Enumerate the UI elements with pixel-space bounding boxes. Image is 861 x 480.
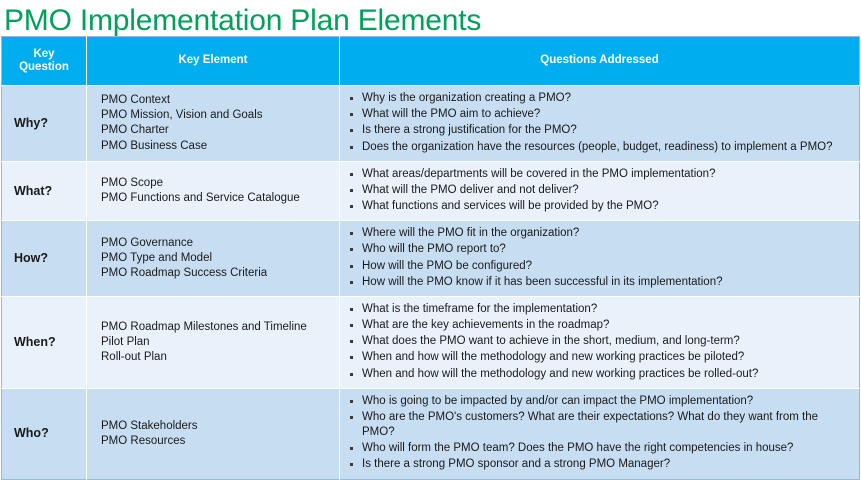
question-list-item: When and how will the methodology and ne… <box>348 367 851 382</box>
question-list-item: Who are the PMO's customers? What are th… <box>348 410 851 440</box>
table-header: Key Question Key Element Questions Addre… <box>2 37 860 86</box>
key-element-line: Roll-out Plan <box>101 350 331 365</box>
header-row: Key Question Key Element Questions Addre… <box>2 37 860 86</box>
questions-list: Why is the organization creating a PMO?W… <box>348 91 851 155</box>
question-list-item: What is the timeframe for the implementa… <box>348 302 851 317</box>
key-element-line: PMO Roadmap Success Criteria <box>101 266 331 281</box>
column-header-key-element: Key Element <box>87 37 340 86</box>
question-list-item: What does the PMO want to achieve in the… <box>348 334 851 349</box>
question-list-item: Who will the PMO report to? <box>348 242 851 257</box>
key-element-line: PMO Charter <box>101 123 331 138</box>
key-element-cell: PMO Roadmap Milestones and TimelinePilot… <box>87 296 340 388</box>
column-header-key-question-line1: Key <box>33 48 54 60</box>
question-list-item: How will the PMO know if it has been suc… <box>348 275 851 290</box>
question-list-item: Is there a strong justification for the … <box>348 123 851 138</box>
question-list-item: When and how will the methodology and ne… <box>348 350 851 365</box>
table-row: When?PMO Roadmap Milestones and Timeline… <box>2 296 860 388</box>
key-element-line: PMO Stakeholders <box>101 419 331 434</box>
questions-addressed-cell: What is the timeframe for the implementa… <box>340 296 860 388</box>
key-question-cell: Who? <box>2 388 87 479</box>
table-body: Why?PMO ContextPMO Mission, Vision and G… <box>2 86 860 480</box>
question-list-item: What functions and services will be prov… <box>348 199 851 214</box>
key-question-cell: How? <box>2 221 87 297</box>
pmo-implementation-plan-table: Key Question Key Element Questions Addre… <box>1 36 860 480</box>
question-list-item: What will the PMO aim to achieve? <box>348 107 851 122</box>
page-title: PMO Implementation Plan Elements <box>0 0 861 36</box>
questions-addressed-cell: Who is going to be impacted by and/or ca… <box>340 388 860 479</box>
column-header-questions-addressed: Questions Addressed <box>340 37 860 86</box>
key-question-cell: When? <box>2 296 87 388</box>
table-row: How?PMO GovernancePMO Type and ModelPMO … <box>2 221 860 297</box>
key-element-line: PMO Functions and Service Catalogue <box>101 191 331 206</box>
key-element-line: PMO Roadmap Milestones and Timeline <box>101 320 331 335</box>
key-element-line: PMO Mission, Vision and Goals <box>101 108 331 123</box>
questions-list: Who is going to be impacted by and/or ca… <box>348 394 851 473</box>
questions-list: Where will the PMO fit in the organizati… <box>348 226 851 290</box>
column-header-key-question-line2: Question <box>19 61 69 73</box>
key-element-line: PMO Context <box>101 93 331 108</box>
question-list-item: Why is the organization creating a PMO? <box>348 91 851 106</box>
key-element-cell: PMO ContextPMO Mission, Vision and Goals… <box>87 86 340 162</box>
question-list-item: Who is going to be impacted by and/or ca… <box>348 394 851 409</box>
questions-addressed-cell: What areas/departments will be covered i… <box>340 161 860 221</box>
question-list-item: Does the organization have the resources… <box>348 140 851 155</box>
key-element-line: PMO Governance <box>101 236 331 251</box>
key-element-line: Pilot Plan <box>101 335 331 350</box>
question-list-item: How will the PMO be configured? <box>348 259 851 274</box>
key-question-cell: What? <box>2 161 87 221</box>
key-element-cell: PMO StakeholdersPMO Resources <box>87 388 340 479</box>
questions-list: What is the timeframe for the implementa… <box>348 302 851 382</box>
questions-addressed-cell: Why is the organization creating a PMO?W… <box>340 86 860 162</box>
question-list-item: Is there a strong PMO sponsor and a stro… <box>348 457 851 472</box>
key-element-cell: PMO GovernancePMO Type and ModelPMO Road… <box>87 221 340 297</box>
table-row: Who?PMO StakeholdersPMO ResourcesWho is … <box>2 388 860 479</box>
table-row: Why?PMO ContextPMO Mission, Vision and G… <box>2 86 860 162</box>
question-list-item: What are the key achievements in the roa… <box>348 318 851 333</box>
key-element-line: PMO Business Case <box>101 139 331 154</box>
question-list-item: What will the PMO deliver and not delive… <box>348 183 851 198</box>
question-list-item: What areas/departments will be covered i… <box>348 167 851 182</box>
key-element-line: PMO Scope <box>101 176 331 191</box>
questions-list: What areas/departments will be covered i… <box>348 167 851 215</box>
key-element-line: PMO Resources <box>101 434 331 449</box>
question-list-item: Where will the PMO fit in the organizati… <box>348 226 851 241</box>
questions-addressed-cell: Where will the PMO fit in the organizati… <box>340 221 860 297</box>
key-element-cell: PMO ScopePMO Functions and Service Catal… <box>87 161 340 221</box>
table-row: What?PMO ScopePMO Functions and Service … <box>2 161 860 221</box>
question-list-item: Who will form the PMO team? Does the PMO… <box>348 441 851 456</box>
key-question-cell: Why? <box>2 86 87 162</box>
key-element-line: PMO Type and Model <box>101 251 331 266</box>
column-header-key-question: Key Question <box>2 37 87 86</box>
